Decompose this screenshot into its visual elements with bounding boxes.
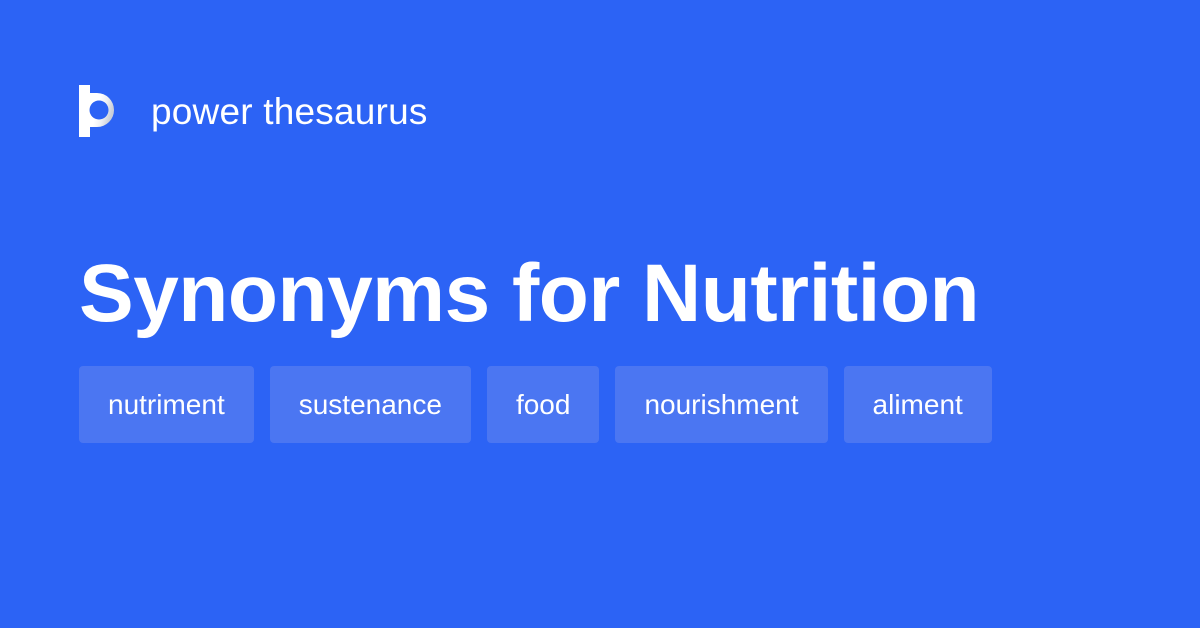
- synonyms-share-card: power thesaurus Synonyms for Nutrition n…: [0, 0, 1200, 628]
- brand-name: power thesaurus: [151, 93, 428, 130]
- synonym-chip-list: nutriment sustenance food nourishment al…: [79, 366, 1029, 443]
- brand-logo[interactable]: power thesaurus: [79, 82, 428, 140]
- synonym-chip[interactable]: aliment: [844, 366, 992, 443]
- synonym-chip[interactable]: sustenance: [270, 366, 471, 443]
- synonym-chip[interactable]: food: [487, 366, 600, 443]
- synonym-chip[interactable]: nutriment: [79, 366, 254, 443]
- power-thesaurus-b-logo-icon: [79, 85, 123, 137]
- synonym-chip[interactable]: nourishment: [615, 366, 827, 443]
- page-title: Synonyms for Nutrition: [79, 253, 1079, 335]
